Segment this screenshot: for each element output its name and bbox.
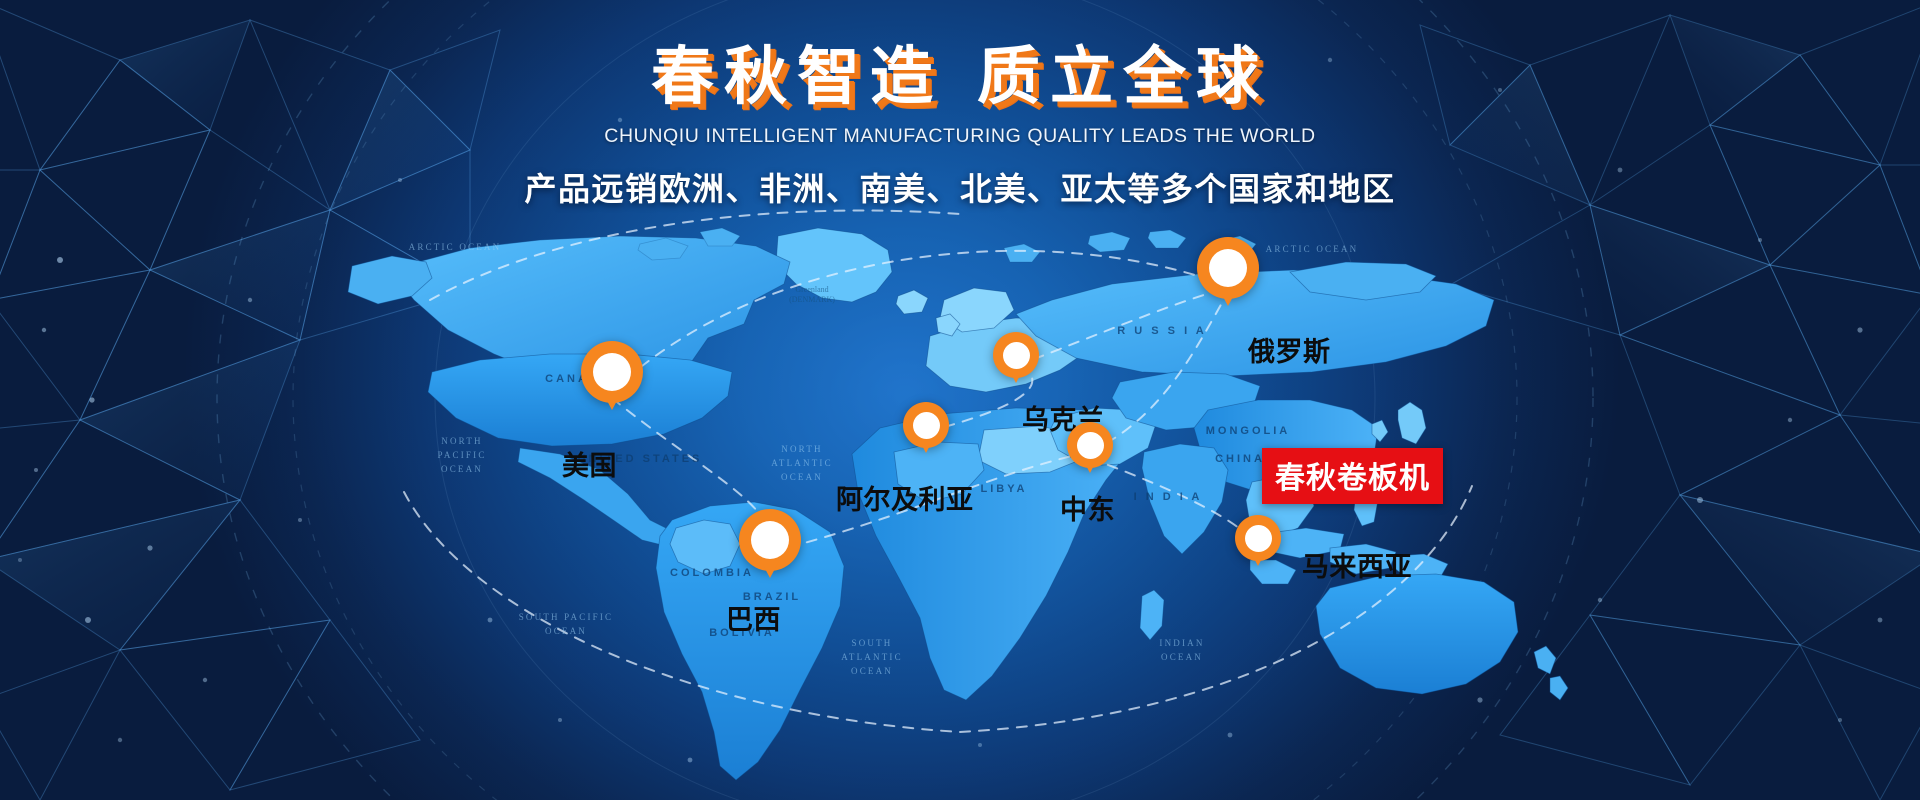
location-pin-icon xyxy=(1235,515,1281,561)
title-part-1: 春秋智造 xyxy=(651,42,943,112)
banner-root: ARCTIC OCEAN ARCTIC OCEAN NORTHPACIFICOC… xyxy=(0,0,1920,800)
map-label-usa: 美国 xyxy=(562,444,617,483)
page-title: 春秋智造质立全球 xyxy=(0,44,1920,110)
map-label-russia: 俄罗斯 xyxy=(1248,330,1331,369)
title-part-2: 质立全球 xyxy=(977,42,1269,112)
map-label-malaysia: 马来西亚 xyxy=(1302,545,1412,584)
map-label-middleeast: 中东 xyxy=(1060,488,1115,527)
location-pin-icon xyxy=(739,509,801,571)
brand-badge[interactable]: 春秋卷板机 xyxy=(1262,448,1443,504)
headline-block: 春秋智造质立全球 CHUNQIU INTELLIGENT MANUFACTURI… xyxy=(0,44,1920,210)
map-label-brazil: 巴西 xyxy=(726,598,781,637)
location-pin-icon xyxy=(1067,422,1113,468)
location-pin-icon xyxy=(581,341,643,403)
map-label-algeria: 阿尔及利亚 xyxy=(836,478,974,517)
subtitle-english: CHUNQIU INTELLIGENT MANUFACTURING QUALIT… xyxy=(0,125,1920,148)
location-pin-icon xyxy=(993,332,1039,378)
location-pin-icon xyxy=(1197,237,1259,299)
location-pin-icon xyxy=(903,402,949,448)
tagline-regions: 产品远销欧洲、非洲、南美、北美、亚太等多个国家和地区 xyxy=(0,164,1920,210)
